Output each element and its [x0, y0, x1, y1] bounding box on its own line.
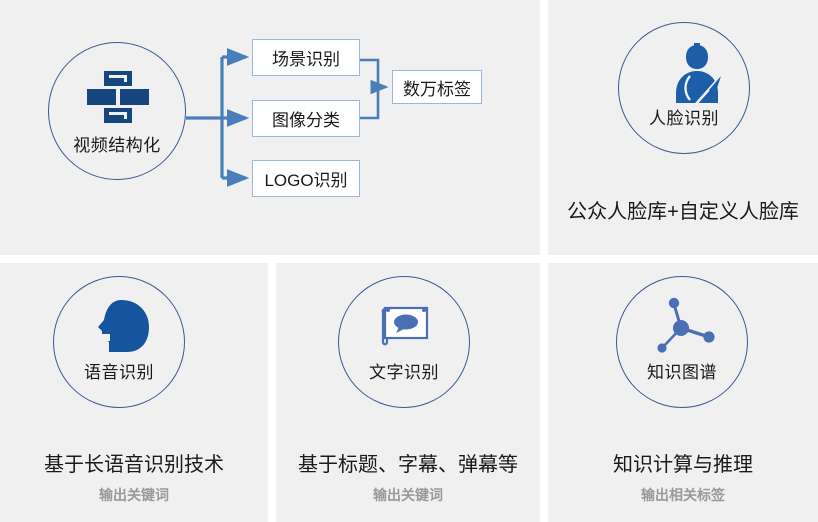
circle-label-video-structuring: 视频结构化: [49, 131, 185, 156]
panel-knowledge-graph: 知识图谱 知识计算与推理 输出相关标签: [548, 263, 818, 522]
flow-box-tens-of-thousands-tags[interactable]: 数万标签: [392, 70, 482, 104]
circle-knowledge-graph[interactable]: 知识图谱: [616, 276, 748, 408]
flow-box-scene-recognition[interactable]: 场景识别: [252, 39, 360, 76]
panel-text-recognition: 文字识别 基于标题、字幕、弹幕等 输出关键词: [276, 263, 540, 522]
caption-kg-sub: 输出相关标签: [548, 485, 818, 505]
caption-speech-sub: 输出关键词: [0, 485, 268, 505]
banner-speech-bubble-icon: [379, 304, 431, 348]
flow-box-image-classification[interactable]: 图像分类: [252, 100, 360, 137]
flow-box-logo-recognition[interactable]: LOGO识别: [252, 160, 360, 197]
panel-video-structuring: 视频结构化 场景识别 图像分类 LOGO识别 数万标签: [0, 0, 540, 255]
panel-speech-recognition: 语音识别 基于长语音识别技术 输出关键词: [0, 263, 268, 522]
node-graph-icon: [649, 295, 717, 357]
circle-face-recognition[interactable]: 人脸识别: [618, 22, 750, 154]
circle-video-structuring[interactable]: 视频结构化: [48, 42, 186, 180]
circle-label-knowledge-graph: 知识图谱: [617, 358, 747, 383]
caption-ocr-main: 基于标题、字幕、弹幕等: [276, 448, 540, 477]
circle-label-text-recognition: 文字识别: [339, 358, 469, 383]
video-structuring-icon: [87, 71, 149, 123]
circle-text-recognition[interactable]: 文字识别: [338, 276, 470, 408]
circle-speech-recognition[interactable]: 语音识别: [53, 276, 185, 408]
panel-face-recognition: 人脸识别 公众人脸库+自定义人脸库: [548, 0, 818, 255]
head-profile-icon: [97, 300, 149, 355]
caption-speech-main: 基于长语音识别技术: [0, 448, 268, 477]
caption-ocr-sub: 输出关键词: [276, 485, 540, 505]
caption-kg-main: 知识计算与推理: [548, 448, 818, 477]
face-scan-icon: [668, 43, 726, 105]
caption-face-recognition: 公众人脸库+自定义人脸库: [548, 195, 818, 224]
circle-label-face-recognition: 人脸识别: [619, 104, 749, 129]
diagram-root: 视频结构化 场景识别 图像分类 LOGO识别 数万标签 人脸识别 公众人脸库+自…: [0, 0, 818, 522]
circle-label-speech-recognition: 语音识别: [54, 358, 184, 383]
